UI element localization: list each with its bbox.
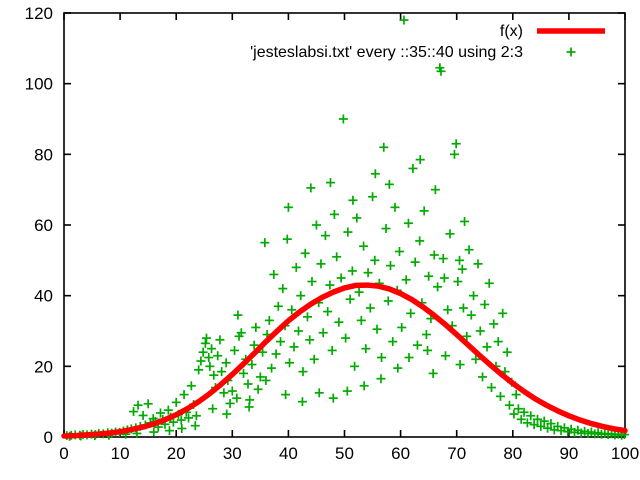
figure-background	[0, 0, 640, 480]
x-tick-label-10: 10	[111, 444, 130, 463]
x-tick-label-50: 50	[335, 444, 354, 463]
y-tick-label-60: 60	[34, 216, 53, 235]
gnuplot-figure: 0102030405060708090100020406080100120 f(…	[0, 0, 640, 480]
x-tick-label-60: 60	[391, 444, 410, 463]
legend-label-0[interactable]: f(x)	[500, 23, 523, 40]
x-tick-label-30: 30	[223, 444, 242, 463]
y-tick-label-100: 100	[25, 75, 53, 94]
x-tick-label-40: 40	[279, 444, 298, 463]
x-tick-label-80: 80	[503, 444, 522, 463]
legend-label-1[interactable]: 'jesteslabsi.txt' every ::35::40 using 2…	[250, 44, 523, 61]
x-tick-label-90: 90	[559, 444, 578, 463]
x-tick-label-0: 0	[59, 444, 68, 463]
x-tick-label-20: 20	[167, 444, 186, 463]
y-tick-label-20: 20	[34, 357, 53, 376]
y-tick-label-80: 80	[34, 145, 53, 164]
x-tick-label-100: 100	[611, 444, 639, 463]
y-tick-label-0: 0	[44, 428, 53, 447]
y-tick-label-40: 40	[34, 287, 53, 306]
x-tick-label-70: 70	[447, 444, 466, 463]
plot-canvas: 0102030405060708090100020406080100120 f(…	[0, 0, 640, 480]
y-tick-label-120: 120	[25, 4, 53, 23]
